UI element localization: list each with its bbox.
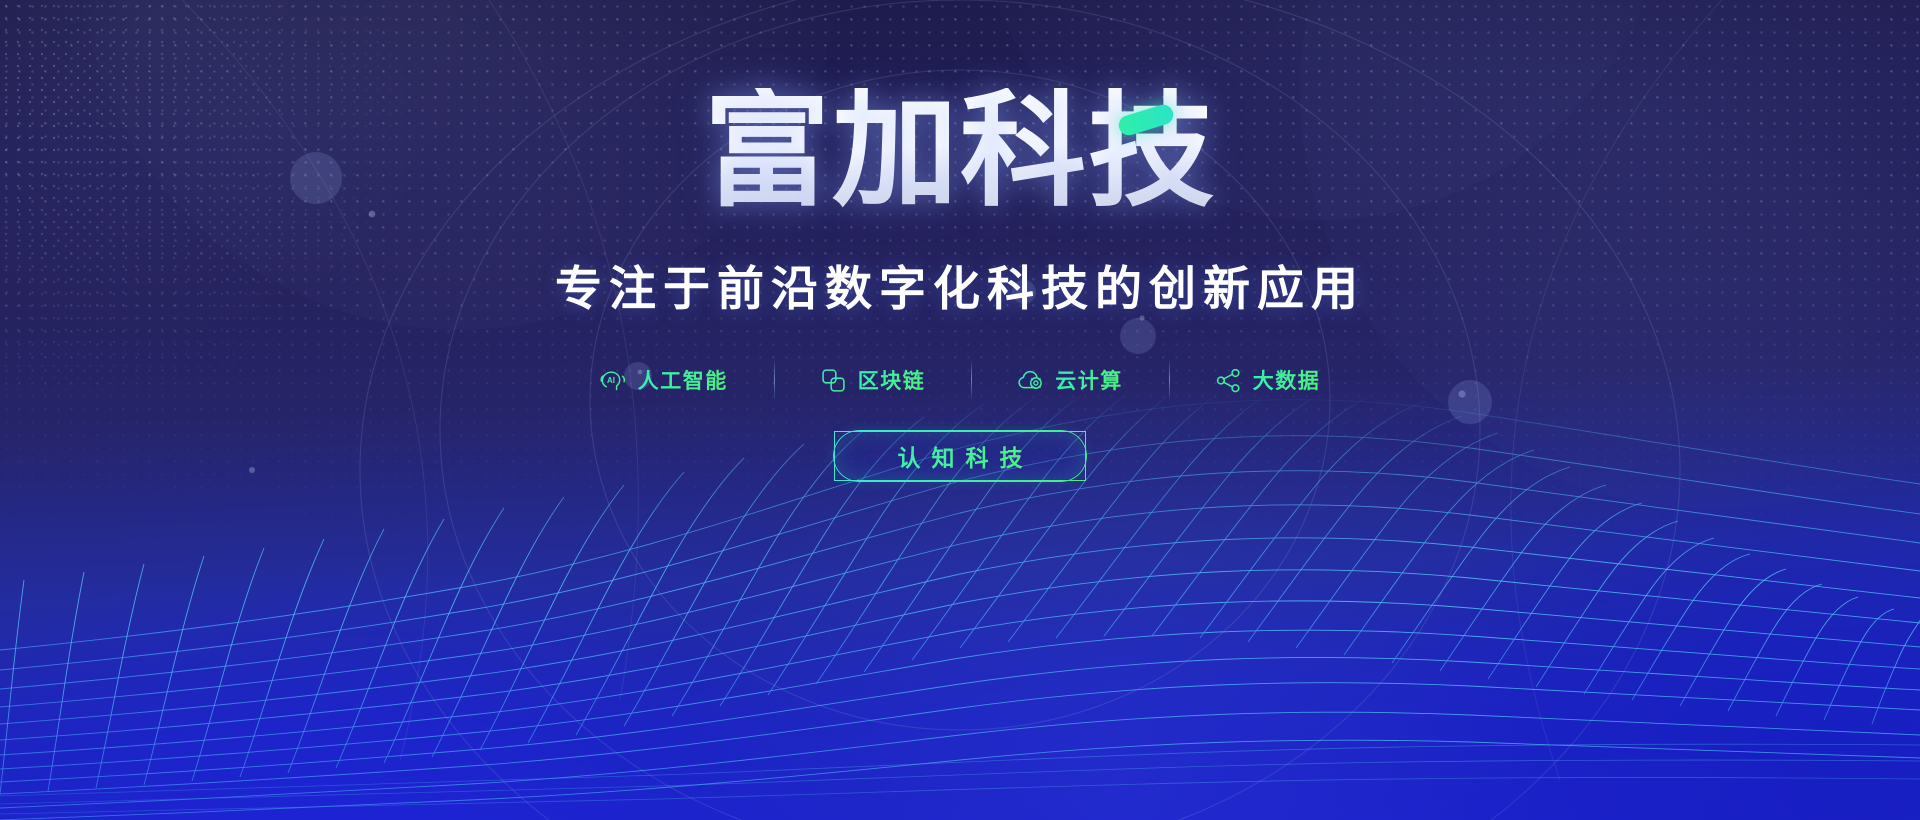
ai-head-icon: AI [600, 367, 627, 394]
hero-content: 富 加 科 技 专注于前沿数字化科技的创新应用 A [0, 0, 1920, 820]
brand-wordmark: 富 加 科 技 [704, 88, 1216, 216]
cta-pill-label: 认知科技 [887, 439, 1034, 473]
feature-tag-ai[interactable]: AI 人工智能 [554, 365, 774, 395]
brand-char-3: 科 [960, 88, 1088, 214]
feature-label-cloud: 云计算 [1055, 365, 1123, 395]
feature-label-bigdata: 大数据 [1253, 365, 1321, 395]
hero-tagline: 专注于前沿数字化科技的创新应用 [555, 250, 1365, 319]
feature-tag-list: AI 人工智能 区块链 [554, 363, 1367, 397]
brand-char-1: 富 [704, 88, 832, 214]
feature-tag-blockchain[interactable]: 区块链 [774, 365, 972, 395]
feature-label-ai: 人工智能 [638, 365, 728, 395]
hero-banner: 富 加 科 技 专注于前沿数字化科技的创新应用 A [0, 0, 1920, 820]
cloud-gear-icon [1017, 367, 1044, 394]
share-nodes-icon [1215, 367, 1242, 394]
cta-pill-button[interactable]: 认知科技 [834, 431, 1086, 481]
brand-char-2: 加 [832, 88, 960, 214]
blockchain-icon [820, 367, 847, 394]
feature-tag-bigdata[interactable]: 大数据 [1169, 365, 1367, 395]
feature-tag-cloud[interactable]: 云计算 [971, 365, 1169, 395]
svg-text:AI: AI [607, 376, 615, 385]
feature-label-blockchain: 区块链 [858, 365, 926, 395]
